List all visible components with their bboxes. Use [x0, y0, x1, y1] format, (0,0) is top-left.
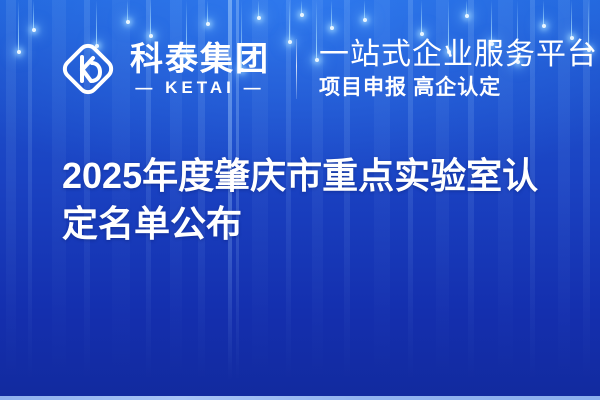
brand-logo[interactable]: 科泰集团 — KETAI — [58, 39, 270, 99]
brand-wordmark: 科泰集团 — KETAI — [130, 41, 270, 97]
light-ray-icon [466, 0, 467, 16]
light-ray-icon [207, 0, 208, 24]
light-ray-icon [331, 0, 332, 28]
page-title: 2025年度肇庆市重点实验室认定名单公布 [62, 152, 562, 248]
light-ray-icon [127, 0, 128, 22]
light-ray-icon [150, 0, 151, 36]
light-ray-icon [543, 0, 544, 26]
light-ray-icon [571, 0, 572, 38]
ketai-diamond-monogram-icon [58, 39, 118, 99]
light-ray-icon [364, 0, 365, 20]
banner-header: 科泰集团 — KETAI — 一站式企业服务平台 项目申报 高企认定 [58, 38, 598, 100]
promo-banner: 科泰集团 — KETAI — 一站式企业服务平台 项目申报 高企认定 2025年… [0, 0, 600, 400]
light-ray-icon [18, 0, 19, 52]
slogan-primary: 一站式企业服务平台 [319, 38, 598, 72]
brand-slogan: 一站式企业服务平台 项目申报 高企认定 [319, 38, 598, 100]
bottom-accent-bar [0, 396, 600, 400]
light-ray-icon [301, 0, 302, 15]
light-ray-icon [421, 0, 422, 34]
background-stripe [28, 0, 32, 400]
light-ray-icon [258, 0, 259, 18]
header-divider [296, 39, 297, 99]
slogan-secondary: 项目申报 高企认定 [319, 75, 598, 100]
brand-name-en: — KETAI — [135, 78, 264, 97]
background-stripe [6, 0, 16, 400]
light-ray-icon [33, 0, 34, 30]
brand-name-cn: 科泰集团 [130, 41, 270, 77]
light-ray-icon [289, 0, 290, 42]
